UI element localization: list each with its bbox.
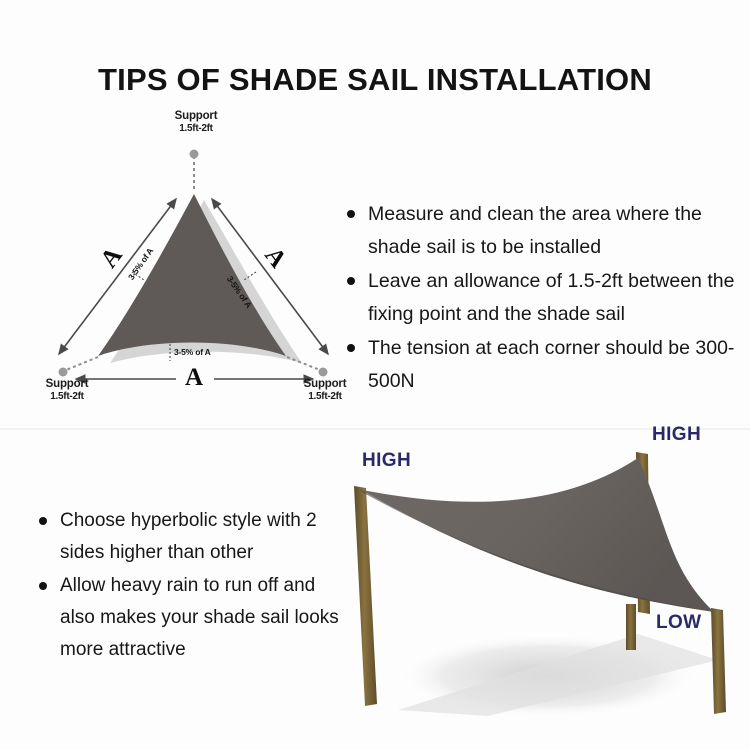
list-item: Choose hyperbolic style with 2 sides hig… <box>38 505 350 569</box>
top-support-dot <box>190 150 199 159</box>
tips-list-bottom-left: Choose hyperbolic style with 2 sides hig… <box>38 505 350 667</box>
list-item-text: The tension at each corner should be 300… <box>368 337 734 392</box>
corner-label-left-high: HIGH <box>362 450 411 472</box>
infographic-page: TIPS OF SHADE SAIL INSTALLATION <box>0 0 750 750</box>
pole-left <box>354 486 377 706</box>
list-item: Leave an allowance of 1.5-2ft between th… <box>346 265 738 331</box>
bottom-left-support-dotted-line <box>66 357 98 370</box>
list-item-text: Allow heavy rain to run off and also mak… <box>60 575 339 660</box>
bullet-dot-icon <box>39 582 47 590</box>
list-item-text: Measure and clean the area where the sha… <box>368 203 702 258</box>
bullet-dot-icon <box>347 210 355 218</box>
tips-list-top-right: Measure and clean the area where the sha… <box>346 198 738 399</box>
hyperbolic-sail-diagram: HIGH HIGH LOW <box>338 428 750 728</box>
support-label-bottom-left: Support 1.5ft-2ft <box>28 378 106 403</box>
list-item-text: Leave an allowance of 1.5-2ft between th… <box>368 270 734 325</box>
sail-diagram-svg <box>338 428 750 728</box>
bottom-left-support-dot <box>59 368 68 377</box>
list-item: Measure and clean the area where the sha… <box>346 198 738 264</box>
bullet-dot-icon <box>347 344 355 352</box>
bullet-dot-icon <box>39 517 47 525</box>
corner-label-right-low: LOW <box>656 612 702 634</box>
pole-back-middle <box>626 604 636 650</box>
support-label-top: Support 1.5ft-2ft <box>160 110 232 135</box>
list-item-text: Choose hyperbolic style with 2 sides hig… <box>60 510 317 563</box>
triangle-shade-sail-diagram: Support 1.5ft-2ft Support 1.5ft-2ft Supp… <box>28 116 368 416</box>
bullet-dot-icon <box>347 277 355 285</box>
sail-surface <box>362 458 714 612</box>
bottom-right-support-dot <box>319 368 328 377</box>
pole-right-low <box>711 608 726 714</box>
page-title: TIPS OF SHADE SAIL INSTALLATION <box>0 62 750 98</box>
list-item: Allow heavy rain to run off and also mak… <box>38 570 350 666</box>
list-item: The tension at each corner should be 300… <box>346 332 738 398</box>
dimension-label-bottom: A <box>185 364 203 392</box>
sag-label-bottom: 3-5% of A <box>174 347 211 357</box>
corner-label-right-high: HIGH <box>652 424 701 446</box>
